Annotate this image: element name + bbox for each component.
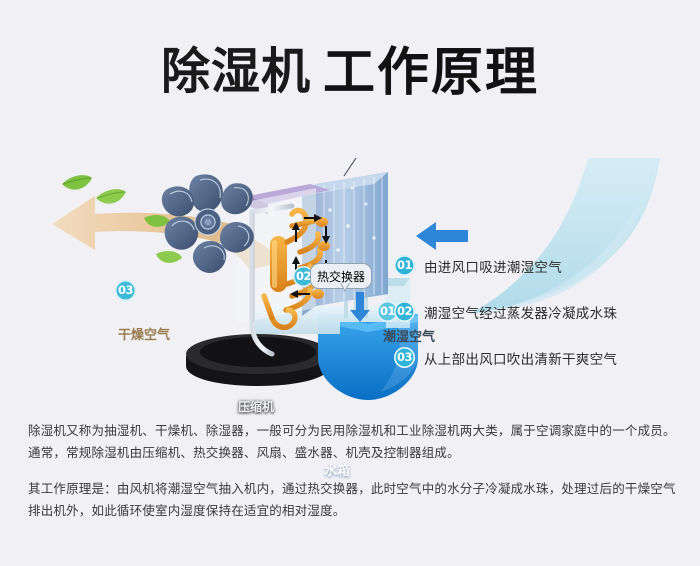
inlet-arrow	[416, 222, 468, 250]
legend-text-02: 潮湿空气经过蒸发器冷凝成水珠	[424, 302, 617, 322]
callout-tail-icon	[340, 283, 350, 292]
dry-air-label: 干燥空气	[118, 324, 170, 343]
badge-dry-air: 03	[115, 280, 136, 301]
compressor-label: 压缩机	[238, 398, 274, 415]
description-paragraph-1: 除湿机又称为抽湿机、干燥机、除湿器，一般可分为民用除湿机和工业除湿机两大类，属于…	[28, 420, 676, 464]
legend-text-01: 由进风口吸进潮湿空气	[424, 256, 562, 276]
title-part-one: 除湿机	[161, 43, 311, 100]
page-title: 除湿机工作原理	[0, 30, 700, 105]
legend-item-03: 03 从上部出风口吹出清新干爽空气	[394, 344, 684, 371]
heat-exchanger-leader	[344, 158, 356, 176]
legend-badge-02: 02	[394, 301, 415, 322]
description-paragraph-2: 其工作原理是：由风机将潮湿空气抽入机内，通过热交换器，此时空气中的水分子冷凝成水…	[28, 478, 676, 522]
legend-badge-01: 01	[394, 255, 415, 276]
legend-item-02: 02 潮湿空气经过蒸发器冷凝成水珠	[394, 298, 684, 325]
infographic-page: 除湿机工作原理	[0, 0, 700, 566]
legend-text-03: 从上部出风口吹出清新干爽空气	[424, 348, 617, 368]
description-block: 除湿机又称为抽湿机、干燥机、除湿器，一般可分为民用除湿机和工业除湿机两大类，属于…	[28, 420, 676, 522]
legend-badge-03: 03	[394, 347, 415, 368]
steps-legend: 01 由进风口吸进潮湿空气 02 潮湿空气经过蒸发器冷凝成水珠 03 从上部出风…	[394, 252, 684, 390]
legend-item-01: 01 由进风口吸进潮湿空气	[394, 252, 684, 279]
title-part-two: 工作原理	[323, 43, 539, 103]
